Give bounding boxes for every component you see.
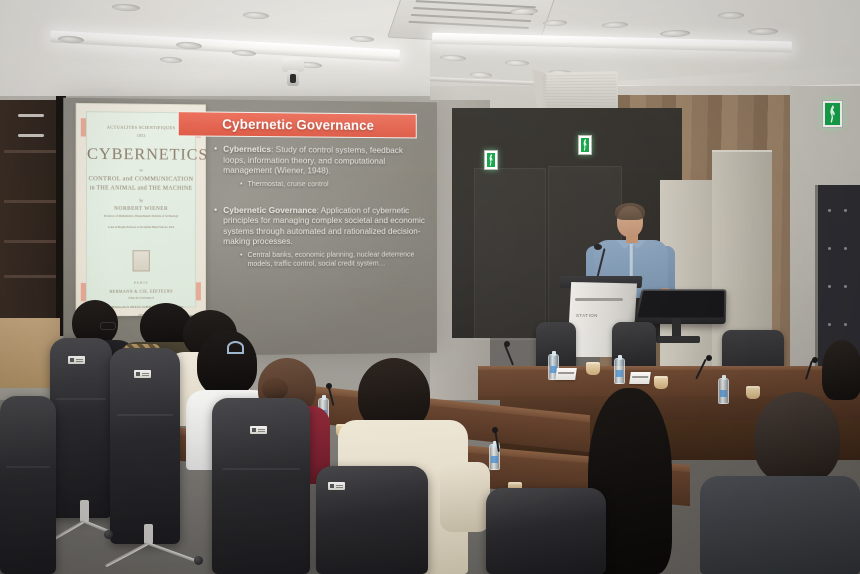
bullet-text: Cybernetic Governance: Application of cy… bbox=[223, 205, 425, 247]
microphone-head-icon bbox=[706, 355, 712, 361]
slide-sub-bullet: • Thermostat, cruise control bbox=[240, 180, 425, 190]
chair-leg bbox=[105, 542, 149, 567]
slide-title-text: Cybernetic Governance bbox=[222, 117, 374, 133]
water-bottle[interactable] bbox=[718, 378, 729, 404]
audience-chair[interactable] bbox=[110, 348, 180, 544]
conference-room-photo: ACTUALITES SCIENTIFIQUES 1053 CYBERNETIC… bbox=[0, 0, 860, 574]
microphone-head-icon bbox=[492, 427, 498, 433]
cabinet-shelf bbox=[4, 275, 56, 278]
audience-chair[interactable] bbox=[486, 488, 606, 574]
chair-caster bbox=[104, 530, 113, 539]
paper-cup[interactable] bbox=[586, 362, 600, 375]
person-torso bbox=[700, 476, 860, 574]
bullet-lead: Cybernetics bbox=[223, 144, 271, 154]
person-arm bbox=[440, 462, 490, 532]
exit-sign-right-wall bbox=[822, 100, 843, 128]
bullet-dot-icon: • bbox=[214, 144, 217, 176]
monitor-screen bbox=[638, 291, 725, 318]
chair-seam bbox=[56, 398, 106, 400]
book-publisher-addr: 6 Rue de la Sorbonne, 6 bbox=[87, 296, 195, 300]
sub-bullet-dot-icon: • bbox=[240, 251, 242, 269]
person-head bbox=[754, 392, 840, 484]
bullet-spacer bbox=[214, 189, 425, 206]
stage-wall-door bbox=[474, 168, 546, 340]
chair-post bbox=[80, 500, 89, 522]
camera-lens bbox=[287, 70, 299, 86]
monitor-base bbox=[656, 336, 700, 343]
slide-title-bar: Cybernetic Governance bbox=[178, 111, 417, 138]
cabinet-shelf bbox=[4, 200, 56, 203]
person-hair-bun bbox=[262, 378, 288, 400]
bullet-text: Cybernetics: Study of control systems, f… bbox=[223, 144, 425, 177]
paper-cup[interactable] bbox=[654, 376, 668, 389]
book-affiliation: Professor of Mathematics, Massachusetts … bbox=[87, 215, 195, 219]
book-affiliation-2: Louis de Broglie Professor at the Instit… bbox=[87, 226, 195, 230]
chair-caster bbox=[194, 556, 203, 565]
cabinet-shelf bbox=[4, 240, 56, 243]
chair-seam bbox=[6, 466, 51, 468]
book-city: PARIS bbox=[87, 280, 195, 285]
wall-cabinet-left bbox=[0, 100, 60, 330]
person-head bbox=[197, 330, 257, 396]
eyeglasses-icon bbox=[100, 322, 116, 330]
name-placard bbox=[629, 372, 651, 384]
sub-bullet-text: Central banks, economic planning, nuclea… bbox=[248, 251, 426, 269]
publisher-logo-icon bbox=[133, 250, 150, 271]
exit-sign-stage-right bbox=[578, 135, 592, 155]
paper-cup[interactable] bbox=[746, 386, 760, 399]
table-microphone bbox=[504, 345, 514, 366]
chair-label-tag bbox=[134, 370, 151, 378]
bullet-dot-icon: • bbox=[214, 205, 217, 247]
chair-post bbox=[144, 524, 153, 544]
slide-sub-bullet: • Central banks, economic planning, nucl… bbox=[240, 251, 425, 269]
book-subtitle-1: CONTROL and COMMUNICATION bbox=[87, 175, 195, 183]
audience-chair[interactable] bbox=[212, 398, 310, 574]
chair-label-tag bbox=[250, 426, 267, 434]
monitor-stem bbox=[672, 318, 681, 338]
exit-sign-stage-left bbox=[484, 150, 498, 170]
microphone-head-icon bbox=[326, 383, 332, 389]
cabinet-handle bbox=[18, 134, 44, 137]
person-head bbox=[822, 340, 860, 400]
chair-base bbox=[104, 524, 208, 574]
sub-bullet-text: Thermostat, cruise control bbox=[248, 180, 329, 189]
podium-brand-label: STATION bbox=[576, 313, 598, 318]
book-by: by bbox=[87, 199, 195, 203]
chair-label-tag bbox=[328, 482, 345, 490]
chair-leg bbox=[147, 542, 197, 563]
speaker-grille bbox=[543, 74, 616, 111]
chair-label-tag bbox=[68, 356, 85, 364]
book-or: or bbox=[87, 167, 195, 173]
audience-chair[interactable] bbox=[316, 466, 428, 574]
slide-bullet: • Cybernetics: Study of control systems,… bbox=[214, 144, 425, 177]
book-inner-panel: ACTUALITES SCIENTIFIQUES 1053 CYBERNETIC… bbox=[86, 111, 196, 308]
water-bottle[interactable] bbox=[614, 358, 625, 384]
microphone-head-icon bbox=[594, 244, 602, 250]
microphone-head-icon bbox=[504, 341, 510, 347]
book-subtitle-2: in THE ANIMAL and THE MACHINE bbox=[87, 185, 195, 191]
sub-bullet-dot-icon: • bbox=[240, 180, 242, 189]
cabinet-shelf bbox=[4, 150, 56, 153]
book-author: NORBERT WIENER bbox=[87, 206, 195, 212]
podium-slot bbox=[575, 298, 623, 301]
book-publisher: HERMANN & CIE, EDITEURS bbox=[87, 288, 195, 294]
bullet-lead: Cybernetic Governance bbox=[223, 205, 316, 215]
security-camera-icon bbox=[282, 58, 304, 72]
name-placard bbox=[555, 368, 577, 380]
chair-seam bbox=[222, 468, 300, 470]
hair-clip-icon bbox=[227, 341, 244, 354]
microphone-head-icon bbox=[812, 357, 818, 363]
cabinet-handle bbox=[18, 114, 44, 117]
presenter-hair bbox=[615, 203, 645, 220]
audience-chair[interactable] bbox=[50, 338, 112, 518]
projection-screen: ACTUALITES SCIENTIFIQUES 1053 CYBERNETIC… bbox=[63, 98, 437, 358]
slide-body: • Cybernetics: Study of control systems,… bbox=[214, 144, 425, 269]
audience-chair[interactable] bbox=[0, 396, 56, 574]
book-title: CYBERNETICS bbox=[87, 146, 195, 165]
slide-bullet: • Cybernetic Governance: Application of … bbox=[214, 205, 425, 247]
chair-seam bbox=[117, 414, 173, 416]
